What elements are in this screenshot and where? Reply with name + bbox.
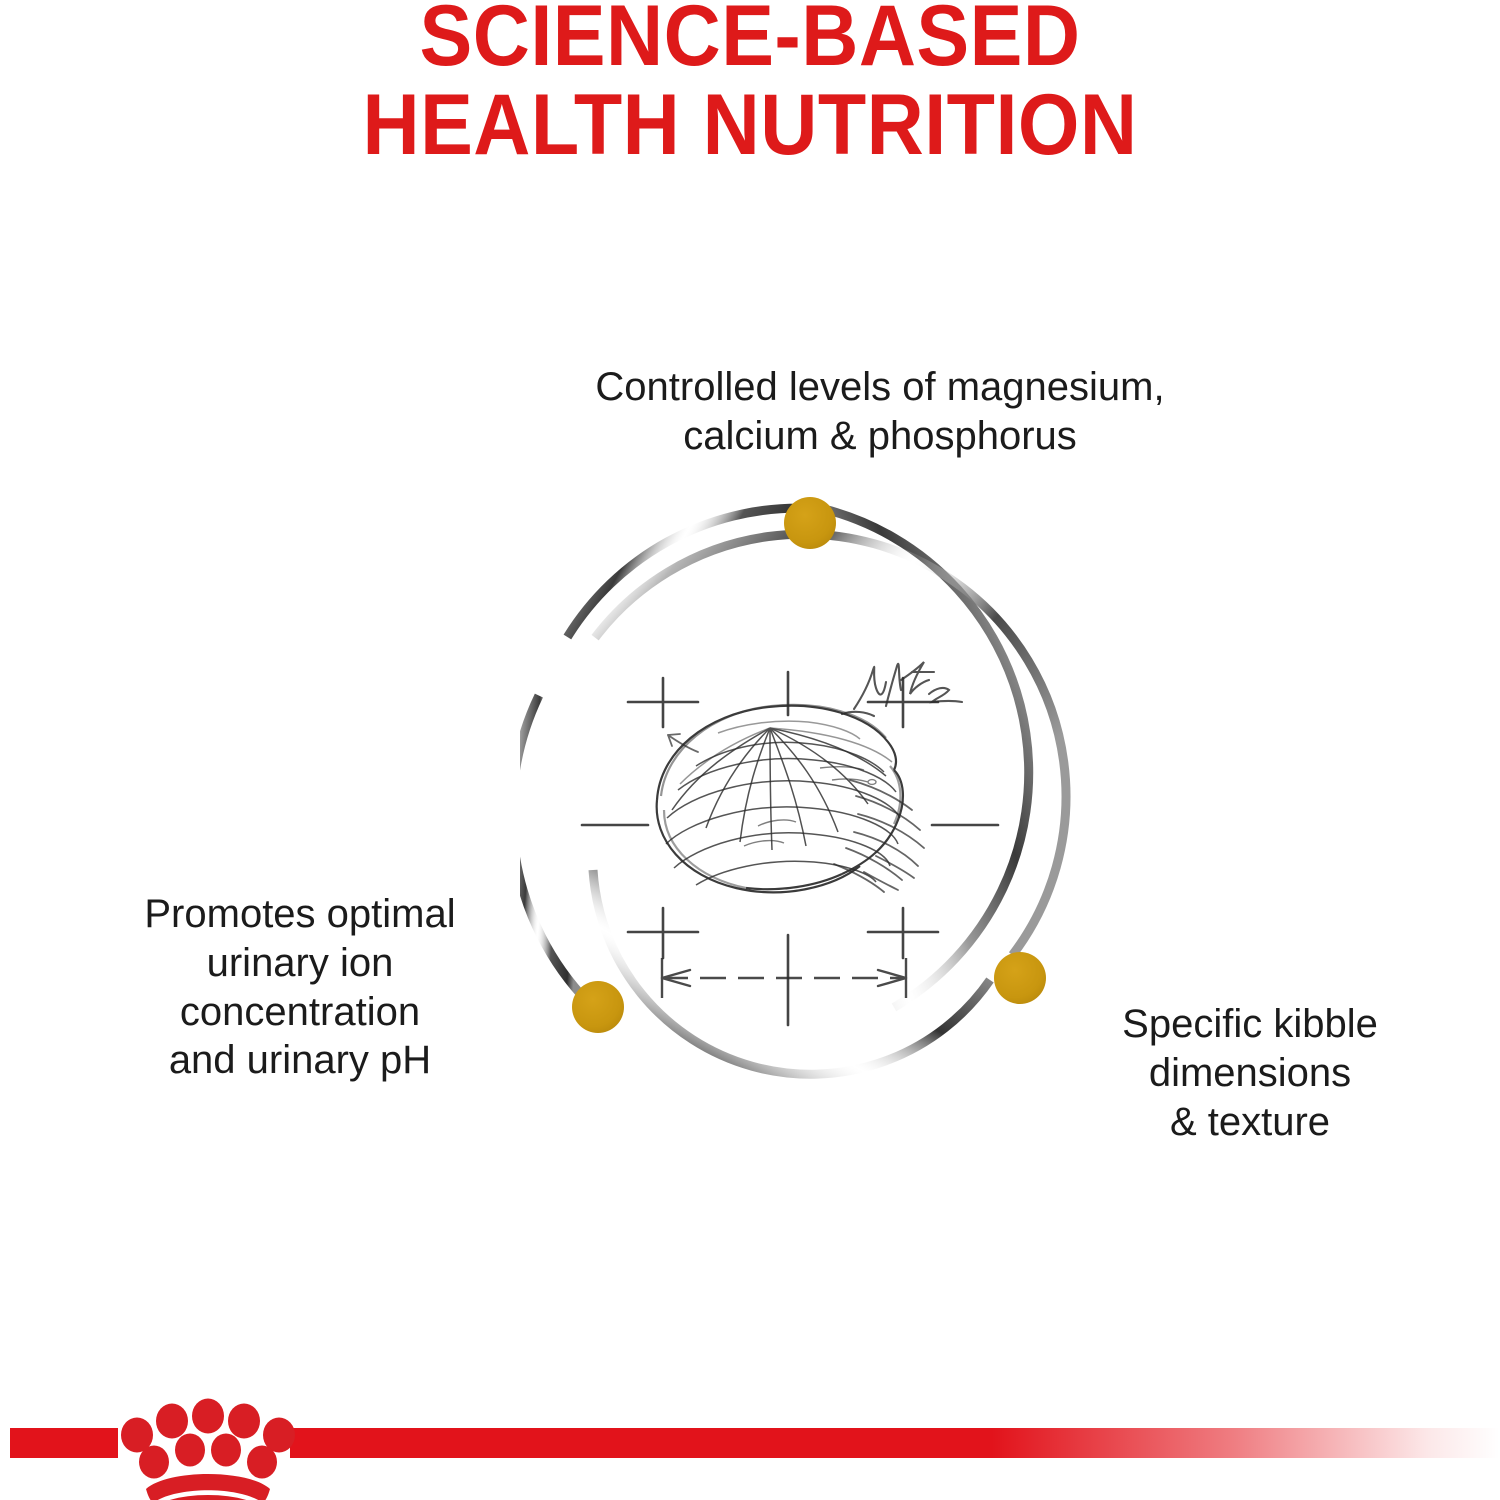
outer-arc-upper [567, 508, 801, 637]
page-title: SCIENCE-BASED HEALTH NUTRITION [0, 0, 1500, 169]
feature-left-line-2: urinary ion [75, 939, 525, 988]
crown-pearl-top-2 [156, 1404, 188, 1439]
feature-caption-top: Controlled levels of magnesium, calcium … [430, 363, 1330, 461]
title-line-2: HEALTH NUTRITION [60, 81, 1440, 170]
feature-right-line-3: & texture [1040, 1098, 1460, 1147]
crown-pearl-top-3 [192, 1399, 224, 1434]
crown-pearl-mid-3 [211, 1434, 241, 1467]
inner-arc-lower [593, 870, 990, 1074]
page-root: SCIENCE-BASED HEALTH NUTRITION Controlle… [0, 0, 1500, 1500]
dot-right [994, 952, 1046, 1004]
feature-top-line-1: Controlled levels of magnesium, [430, 363, 1330, 412]
crown-pearl-mid-2 [175, 1434, 205, 1467]
footer-bar-left [10, 1428, 118, 1458]
feature-caption-left: Promotes optimal urinary ion concentrati… [75, 890, 525, 1085]
inner-orbit-arcs [593, 534, 1066, 1074]
orbit-node-dots [572, 497, 1046, 1033]
kibble-wireframe-meridians [672, 728, 892, 850]
dimension-line [662, 958, 906, 998]
feature-left-line-1: Promotes optimal [75, 890, 525, 939]
crown-pearl-mid-1 [139, 1446, 169, 1479]
outer-arc-lower-left [520, 696, 588, 1003]
feature-right-line-2: dimensions [1040, 1049, 1460, 1098]
royal-canin-crown-logo [121, 1399, 295, 1500]
feature-top-line-2: calcium & phosphorus [430, 412, 1330, 461]
crown-pearl-top-4 [228, 1404, 260, 1439]
brand-footer [0, 1390, 1500, 1500]
kibble-diagram [520, 480, 1100, 1080]
feature-left-line-4: and urinary pH [75, 1036, 525, 1085]
kibble-technical-sketch [582, 662, 998, 1025]
feature-left-line-3: concentration [75, 988, 525, 1037]
title-line-1: SCIENCE-BASED [60, 0, 1440, 81]
dot-bottom-left [572, 981, 624, 1033]
feature-caption-right: Specific kibble dimensions & texture [1040, 1000, 1460, 1146]
feature-right-line-1: Specific kibble [1040, 1000, 1460, 1049]
crown-pearl-mid-4 [247, 1446, 277, 1479]
dot-top-right [784, 497, 836, 549]
footer-bar-right [290, 1428, 1500, 1458]
